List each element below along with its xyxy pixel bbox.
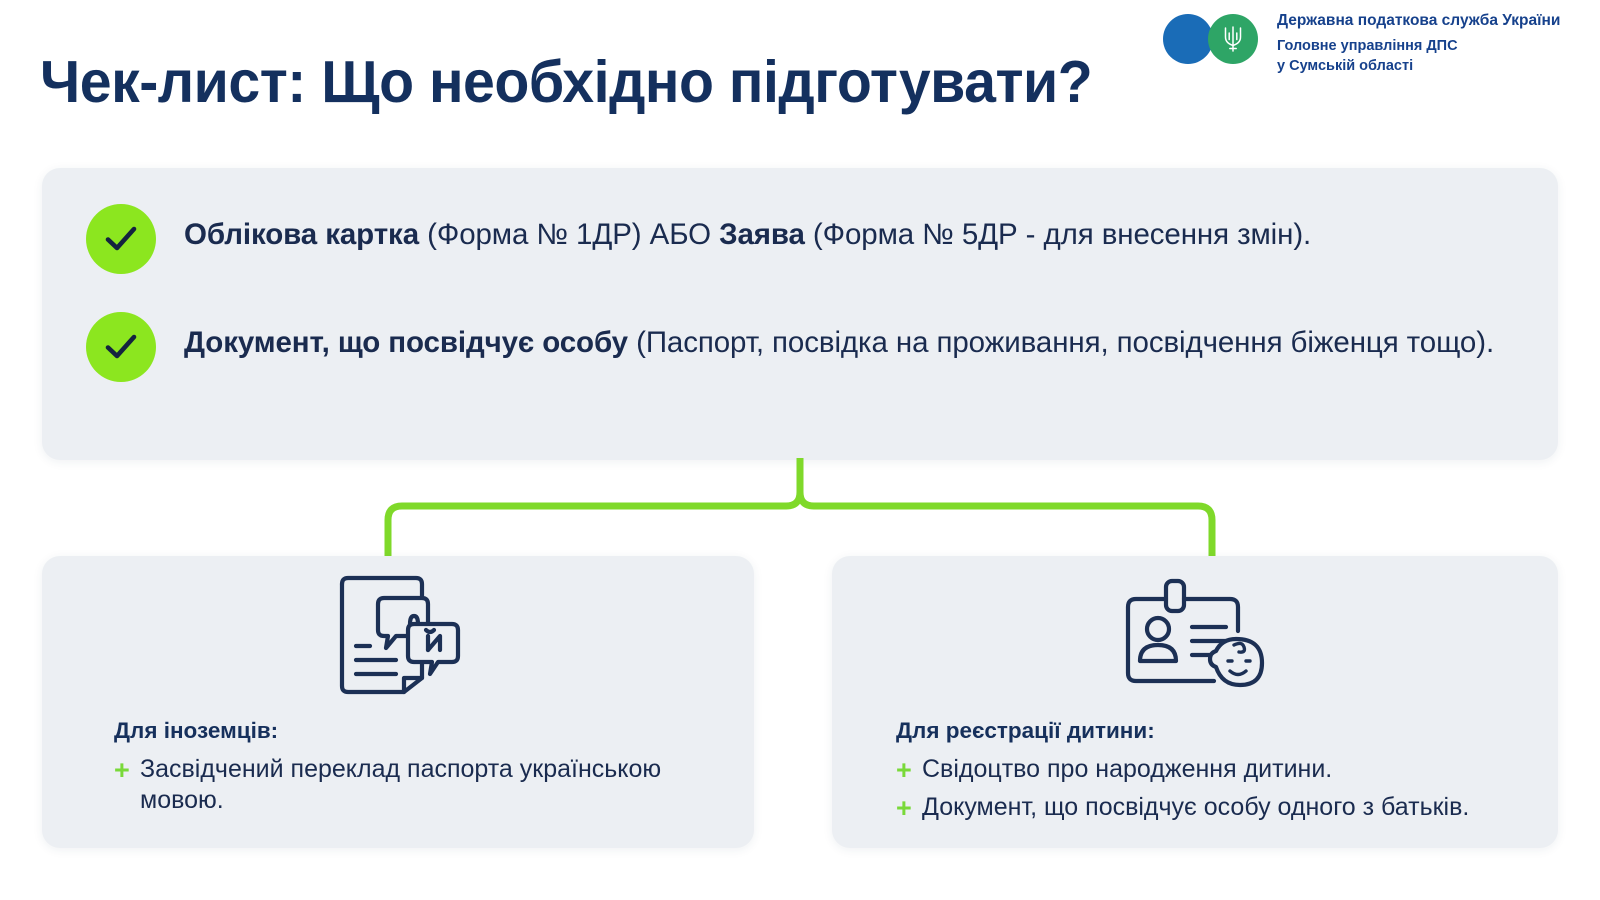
foreigners-card-heading: Для іноземців: xyxy=(114,718,724,744)
check-circle-icon xyxy=(86,204,156,274)
id-card-baby-icon xyxy=(862,570,1528,700)
logo-marks xyxy=(1163,8,1271,64)
translate-document-icon xyxy=(72,570,724,700)
child-registration-bullet-list: + Свідоцтво про народження дитини. + Док… xyxy=(862,754,1528,825)
list-item: + Засвідчений переклад паспорта українсь… xyxy=(114,754,724,815)
id-card-baby-glyph-icon xyxy=(1122,577,1268,693)
logo-text-block: Державна податкова служба України Головн… xyxy=(1277,8,1560,76)
foreigners-card: Для іноземців: + Засвідчений переклад па… xyxy=(42,556,754,848)
child-registration-card: Для реєстрації дитини: + Свідоцтво про н… xyxy=(832,556,1558,848)
logo-line-1: Державна податкова служба України xyxy=(1277,11,1560,31)
checklist-item-plain-2: (Форма № 5ДР - для внесення змін). xyxy=(805,218,1311,251)
check-mark-icon xyxy=(101,327,141,367)
checklist-item-text: Облікова картка (Форма № 1ДР) АБО Заява … xyxy=(184,204,1311,254)
check-circle-icon xyxy=(86,312,156,382)
blue-circle-icon xyxy=(1163,14,1213,64)
logo-line-2: Головне управління ДПС xyxy=(1277,37,1560,56)
list-item: + Свідоцтво про народження дитини. xyxy=(896,754,1528,787)
foreigners-bullet-list: + Засвідчений переклад паспорта українсь… xyxy=(72,754,724,815)
check-mark-icon xyxy=(101,219,141,259)
checklist-item-bold-1: Документ, що посвідчує особу xyxy=(184,326,628,359)
checklist-item: Облікова картка (Форма № 1ДР) АБО Заява … xyxy=(86,204,1514,274)
trident-emblem-icon xyxy=(1208,14,1258,64)
checklist-item-bold-1: Облікова картка xyxy=(184,218,419,251)
trident-glyph-icon xyxy=(1222,24,1244,54)
checklist-item: Документ, що посвідчує особу (Паспорт, п… xyxy=(86,312,1514,382)
child-registration-card-heading: Для реєстрації дитини: xyxy=(896,718,1528,744)
logo-line-3: у Сумській області xyxy=(1277,57,1560,76)
branch-connector xyxy=(380,458,1220,568)
list-item: + Документ, що посвідчує особу одного з … xyxy=(896,792,1528,825)
checklist-item-text: Документ, що посвідчує особу (Паспорт, п… xyxy=(184,312,1494,362)
list-item-text: Свідоцтво про народження дитини. xyxy=(922,754,1332,785)
checklist-item-plain-1: (Форма № 1ДР) АБО xyxy=(419,218,719,251)
checklist-item-plain-1: (Паспорт, посвідка на проживання, посвід… xyxy=(628,326,1494,359)
translate-document-glyph-icon xyxy=(334,574,462,696)
list-item-text: Документ, що посвідчує особу одного з ба… xyxy=(922,792,1469,823)
plus-bullet-icon: + xyxy=(896,792,922,825)
checklist-item-bold-2: Заява xyxy=(719,218,805,251)
plus-bullet-icon: + xyxy=(896,754,922,787)
organization-logo: Державна податкова служба України Головн… xyxy=(1163,8,1560,76)
checklist-card: Облікова картка (Форма № 1ДР) АБО Заява … xyxy=(42,168,1558,460)
page-title: Чек-лист: Що необхідно підготувати? xyxy=(40,48,1092,116)
plus-bullet-icon: + xyxy=(114,754,140,787)
list-item-text: Засвідчений переклад паспорта українсько… xyxy=(140,754,724,815)
